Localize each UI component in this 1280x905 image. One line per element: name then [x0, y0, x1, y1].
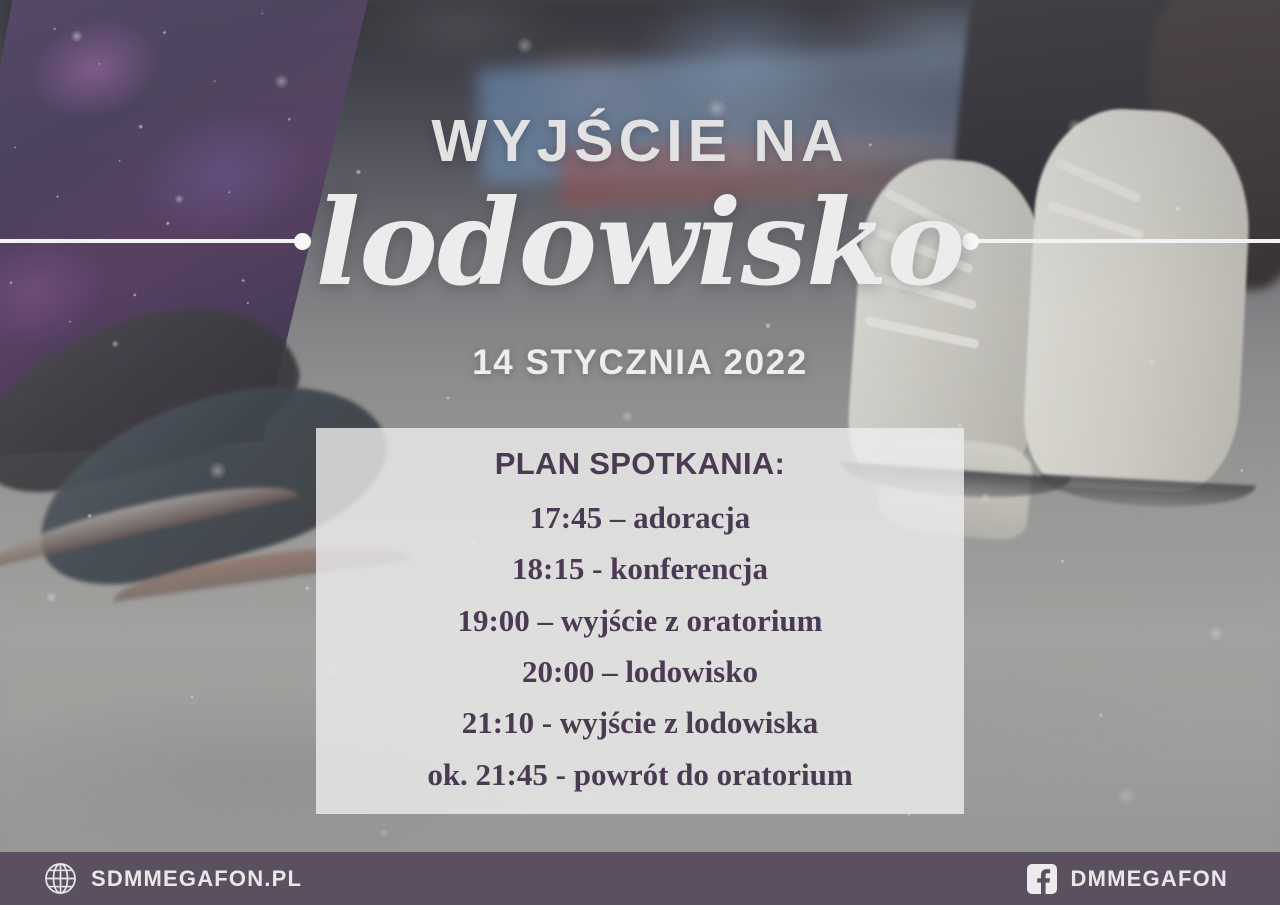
schedule-item: 19:00 – wyjście z oratorium — [457, 595, 822, 646]
facebook-icon — [1027, 864, 1057, 894]
globe-icon — [44, 862, 77, 895]
website-label: SDMMEGAFON.PL — [91, 866, 302, 892]
poster-script-word: lodowisko — [0, 183, 1280, 303]
website-link[interactable]: SDMMEGAFON.PL — [44, 862, 302, 895]
schedule-title: PLAN SPOTKANIA: — [495, 446, 785, 482]
poster-headline: WYJŚCIE NA — [0, 112, 1280, 171]
facebook-label: DMMEGAFON — [1071, 866, 1228, 892]
schedule-item: 20:00 – lodowisko — [522, 646, 758, 697]
poster-event-date: 14 STYCZNIA 2022 — [0, 343, 1280, 383]
facebook-link[interactable]: DMMEGAFON — [1027, 864, 1228, 894]
schedule-item: ok. 21:45 - powrót do oratorium — [427, 749, 852, 800]
schedule-panel: PLAN SPOTKANIA: 17:45 – adoracja 18:15 -… — [316, 428, 964, 814]
footer-bar: SDMMEGAFON.PL DMMEGAFON — [0, 852, 1280, 905]
poster: WYJŚCIE NA lodowisko 14 STYCZNIA 2022 PL… — [0, 0, 1280, 905]
schedule-item: 21:10 - wyjście z lodowiska — [462, 697, 818, 748]
schedule-item: 18:15 - konferencja — [512, 543, 768, 594]
schedule-item: 17:45 – adoracja — [530, 492, 750, 543]
